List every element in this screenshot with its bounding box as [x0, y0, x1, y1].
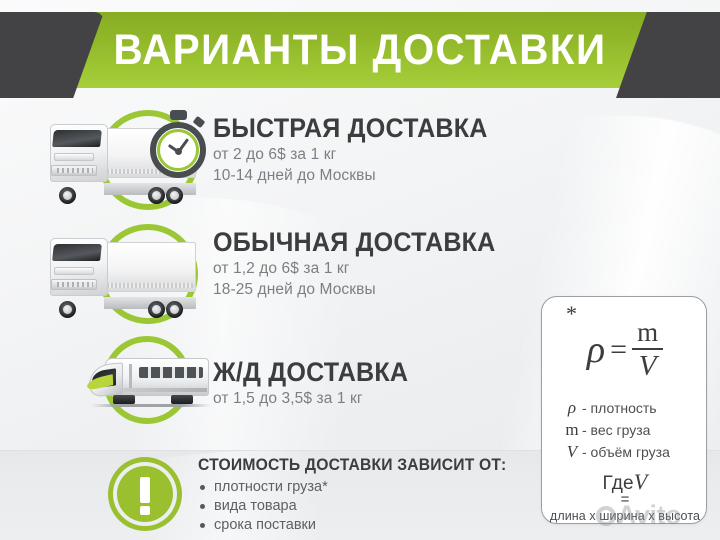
header-banner: ВАРИАНТЫ ДОСТАВКИ	[0, 12, 720, 92]
cost-factors-heading: СТОИМОСТЬ ДОСТАВКИ ЗАВИСИТ ОТ:	[198, 456, 512, 475]
formula-denominator: V	[632, 350, 663, 381]
option-title: БЫСТРАЯ ДОСТАВКА	[213, 112, 529, 144]
legend-row: V - объём груза	[562, 441, 702, 463]
semi-truck-icon	[42, 236, 202, 318]
where-volume-symbol: V	[634, 469, 648, 494]
delivery-option-fast: БЫСТРАЯ ДОСТАВКА от 2 до 6$ за 1 кг 10-1…	[0, 104, 560, 214]
delivery-option-rail: Ж/Д ДОСТАВКА от 1,5 до 3,5$ за 1 кг	[0, 334, 560, 444]
where-equals-sign: =	[542, 495, 708, 505]
legend-symbol: V	[562, 441, 582, 463]
list-item: вида товара	[198, 497, 528, 516]
list-item: срока поставки	[198, 516, 528, 535]
formula-numerator: m	[632, 319, 663, 348]
legend-description: - плотность	[582, 397, 657, 419]
delivery-option-standard: ОБЫЧНАЯ ДОСТАВКА от 1,2 до 6$ за 1 кг 18…	[0, 218, 560, 328]
cost-factors-block: СТОИМОСТЬ ДОСТАВКИ ЗАВИСИТ ОТ: плотности…	[108, 452, 528, 538]
standard-delivery-icon-group	[40, 218, 205, 328]
legend-description: - объём груза	[582, 441, 670, 463]
rail-delivery-icon-group	[95, 334, 205, 426]
formula-fraction: m V	[632, 319, 663, 381]
option-title: ОБЫЧНАЯ ДОСТАВКА	[213, 226, 529, 258]
cost-factors-list: плотности груза* вида товара срока поста…	[198, 478, 528, 535]
cost-factors-text: СТОИМОСТЬ ДОСТАВКИ ЗАВИСИТ ОТ: плотности…	[198, 456, 528, 535]
list-item: плотности груза*	[198, 478, 528, 497]
delivery-options-poster: ВАРИАНТЫ ДОСТАВКИ	[0, 0, 720, 540]
high-speed-train-icon	[91, 350, 211, 412]
fast-delivery-text: БЫСТРАЯ ДОСТАВКА от 2 до 6$ за 1 кг 10-1…	[213, 112, 553, 186]
volume-formula-text: длина х ширина х высота	[542, 509, 708, 523]
exclamation-circle-icon	[108, 457, 182, 531]
legend-row: ρ - плотность	[562, 397, 702, 419]
option-duration: 18-25 дней до Москвы	[213, 279, 553, 300]
option-price: от 1,2 до 6$ за 1 кг	[213, 258, 553, 279]
legend-symbol: ρ	[562, 397, 582, 419]
density-formula-card: * ρ = m V ρ - плотность m - вес груза V …	[541, 296, 707, 524]
page-title: ВАРИАНТЫ ДОСТАВКИ	[22, 12, 699, 88]
where-word: Где	[603, 473, 634, 494]
volume-definition: ГдеV = длина х ширина х высота	[542, 469, 708, 523]
legend-row: m - вес груза	[562, 419, 702, 441]
standard-delivery-text: ОБЫЧНАЯ ДОСТАВКА от 1,2 до 6$ за 1 кг 18…	[213, 226, 553, 300]
option-title: Ж/Д ДОСТАВКА	[213, 356, 529, 388]
option-price: от 2 до 6$ за 1 кг	[213, 144, 553, 165]
formula-equals-sign: =	[610, 335, 627, 365]
rail-delivery-text: Ж/Д ДОСТАВКА от 1,5 до 3,5$ за 1 кг	[213, 356, 553, 409]
fast-delivery-icon-group	[40, 104, 205, 214]
legend-symbol: m	[562, 419, 582, 441]
option-duration: 10-14 дней до Москвы	[213, 165, 553, 186]
formula-legend: ρ - плотность m - вес груза V - объём гр…	[562, 397, 702, 463]
stopwatch-icon	[148, 110, 210, 176]
legend-description: - вес груза	[582, 419, 650, 441]
formula-rho-symbol: ρ	[587, 331, 605, 369]
density-formula: ρ = m V	[542, 313, 708, 387]
option-price: от 1,5 до 3,5$ за 1 кг	[213, 388, 553, 409]
